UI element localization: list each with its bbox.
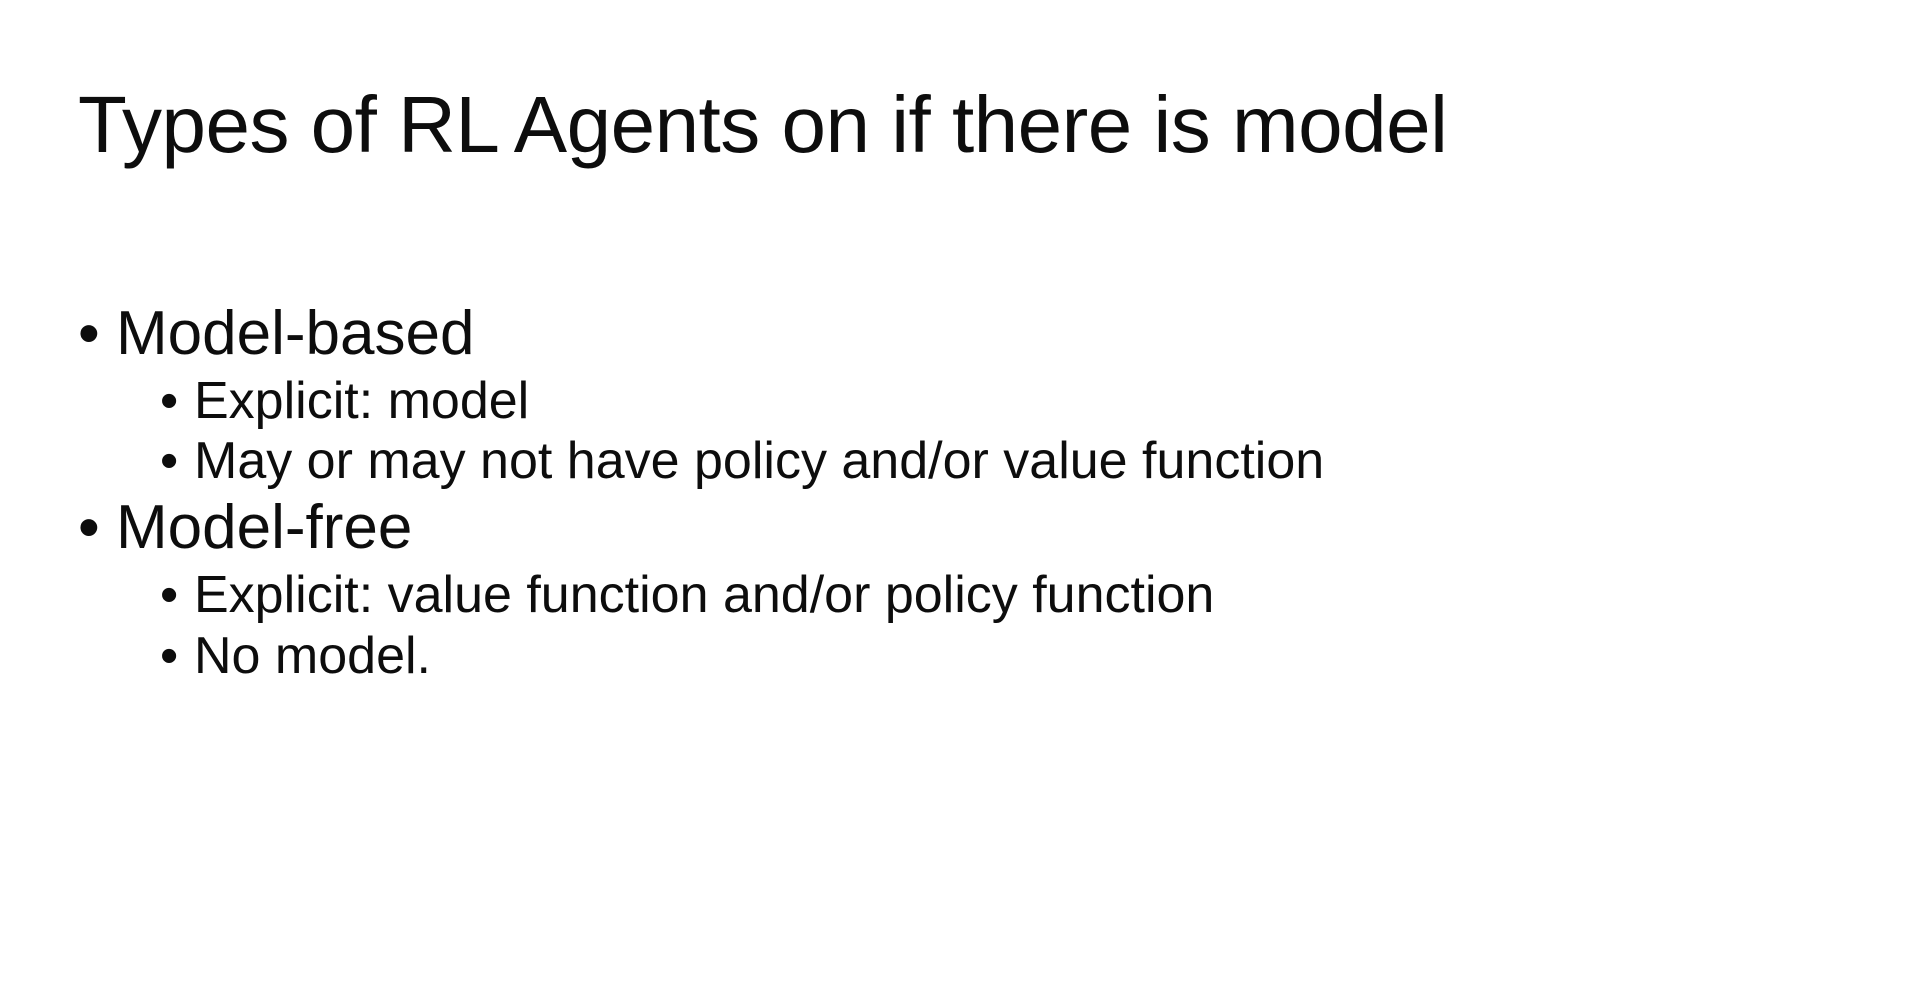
bullet-item-explicit-model: • Explicit: model xyxy=(78,371,1858,432)
presentation-slide: Types of RL Agents on if there is model … xyxy=(0,0,1920,1004)
bullet-item-model-based: • Model-based xyxy=(78,298,1858,371)
slide-body-list: • Model-based • Explicit: model • May or… xyxy=(78,298,1858,686)
bullet-text: Model-free xyxy=(116,492,412,565)
bullet-item-no-model: • No model. xyxy=(78,626,1858,687)
bullet-point-icon: • xyxy=(160,371,194,432)
bullet-point-icon: • xyxy=(160,626,194,687)
bullet-point-icon: • xyxy=(160,565,194,626)
bullet-text: Model-based xyxy=(116,298,474,371)
bullet-text: No model. xyxy=(194,626,431,687)
bullet-item-model-free: • Model-free xyxy=(78,492,1858,565)
bullet-text: May or may not have policy and/or value … xyxy=(194,431,1324,492)
bullet-text: Explicit: value function and/or policy f… xyxy=(194,565,1214,626)
bullet-point-icon: • xyxy=(78,492,116,565)
slide-title: Types of RL Agents on if there is model xyxy=(78,80,1838,170)
bullet-point-icon: • xyxy=(160,431,194,492)
bullet-point-icon: • xyxy=(78,298,116,371)
bullet-item-may-or-may-not-have-policy: • May or may not have policy and/or valu… xyxy=(78,431,1858,492)
bullet-item-explicit-value-function: • Explicit: value function and/or policy… xyxy=(78,565,1858,626)
bullet-text: Explicit: model xyxy=(194,371,529,432)
